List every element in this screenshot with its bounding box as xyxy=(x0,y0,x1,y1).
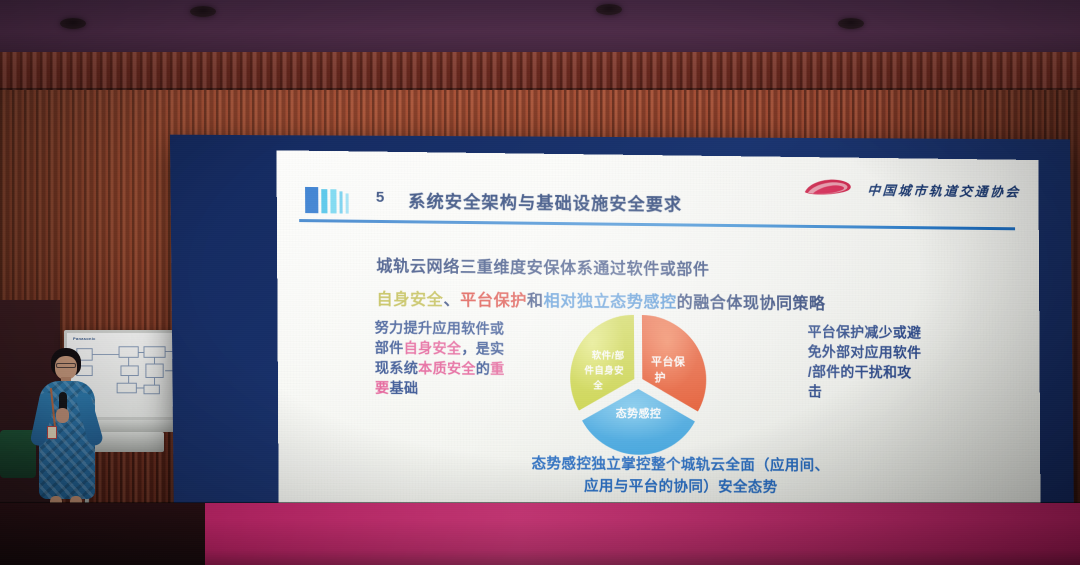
presenter-hand xyxy=(56,408,69,423)
slide-section-number: 5 xyxy=(376,189,385,206)
pie-label-self-security-3: 全 xyxy=(592,380,603,392)
header-accent-bars xyxy=(305,187,349,214)
caption-line-2: 应用与平台的协同）安全态势 xyxy=(400,475,960,501)
right-note-line-4: 击 xyxy=(808,382,959,403)
ceiling-light xyxy=(596,4,622,15)
right-note-line-1: 平台保护减少或避 xyxy=(808,323,959,344)
accent-bar xyxy=(305,187,318,213)
left-note-block: 努力提升应用软件或部件自身安全，是实现系统本质安全的重要基础 xyxy=(375,318,512,399)
glasses-icon xyxy=(56,363,76,368)
left-note-seg4: 全 xyxy=(447,340,462,356)
left-note-seg7: 的 xyxy=(476,360,490,376)
pie-label-self-security-1: 软件/部 xyxy=(592,350,625,362)
conference-photo-scene: Panasonic Panaboard xyxy=(0,0,1080,565)
lead-seg-self-security: 自身安全 xyxy=(376,291,443,309)
lead-seg-platform-protect: 平台保护 xyxy=(460,292,527,310)
left-note-seg6: 本质安全 xyxy=(418,360,476,377)
three-dimension-pie-chart: 软件/部 件自身安 全 平台保 护 态势感控 xyxy=(538,306,739,458)
ceiling-light xyxy=(60,18,86,29)
left-note-seg1: 努力提升应用软 xyxy=(375,319,476,336)
right-note-block: 平台保护减少或避 免外部对应用软件 /部件的干扰和攻 击 xyxy=(808,323,959,404)
lead-seg-comma: 、 xyxy=(443,292,460,309)
left-note-seg3: 自身安 xyxy=(404,340,447,356)
accent-bar xyxy=(321,189,327,213)
header-divider xyxy=(299,219,1015,230)
pie-label-platform-protect-1: 平台保 xyxy=(651,354,686,368)
projection-screen: 5 系统安全架构与基础设施安全要求 中国城市轨道交通协会 城轨云网络三重维度安保… xyxy=(170,135,1074,530)
accent-bar xyxy=(346,193,349,213)
accent-bar xyxy=(339,191,342,213)
accent-bar xyxy=(330,189,336,213)
slide-caption: 态势感控独立掌控整个城轨云全面（应用间、 应用与平台的协同）安全态势 xyxy=(400,453,960,500)
pie-slice-self-security: 软件/部 件自身安 全 xyxy=(570,314,635,411)
right-note-line-2: 免外部对应用软件 xyxy=(808,342,959,363)
right-note-line-3: /部件的干扰和攻 xyxy=(808,362,959,383)
pie-label-situation-control: 态势感控 xyxy=(616,406,662,420)
association-name: 中国城市轨道交通协会 xyxy=(867,179,1022,200)
metro-swoosh-icon xyxy=(801,175,859,202)
ceiling-light xyxy=(838,18,864,29)
association-logo: 中国城市轨道交通协会 xyxy=(801,175,1021,204)
ceiling-light xyxy=(190,6,216,17)
left-note-seg9: 基础 xyxy=(389,379,418,395)
presentation-slide: 5 系统安全架构与基础设施安全要求 中国城市轨道交通协会 城轨云网络三重维度安保… xyxy=(276,150,1040,515)
pie-svg: 软件/部 件自身安 全 平台保 护 态势感控 xyxy=(538,306,739,458)
pie-label-self-security-2: 件自身安 xyxy=(584,365,624,377)
stage-apron-dark xyxy=(0,503,205,565)
slide-header: 5 系统安全架构与基础设施安全要求 中国城市轨道交通协会 xyxy=(277,172,1039,239)
hall-ceiling xyxy=(0,0,1080,58)
slide-lead-text: 城轨云网络三重维度安保体系通过软件或部件 自身安全、平台保护和相对独立态势感控的… xyxy=(376,252,996,315)
lead-line-1: 城轨云网络三重维度安保体系通过软件或部件 xyxy=(376,252,995,283)
slide-title: 系统安全架构与基础设施安全要求 xyxy=(408,187,682,215)
pie-label-platform-protect-2: 护 xyxy=(655,370,666,384)
name-badge xyxy=(47,426,57,439)
